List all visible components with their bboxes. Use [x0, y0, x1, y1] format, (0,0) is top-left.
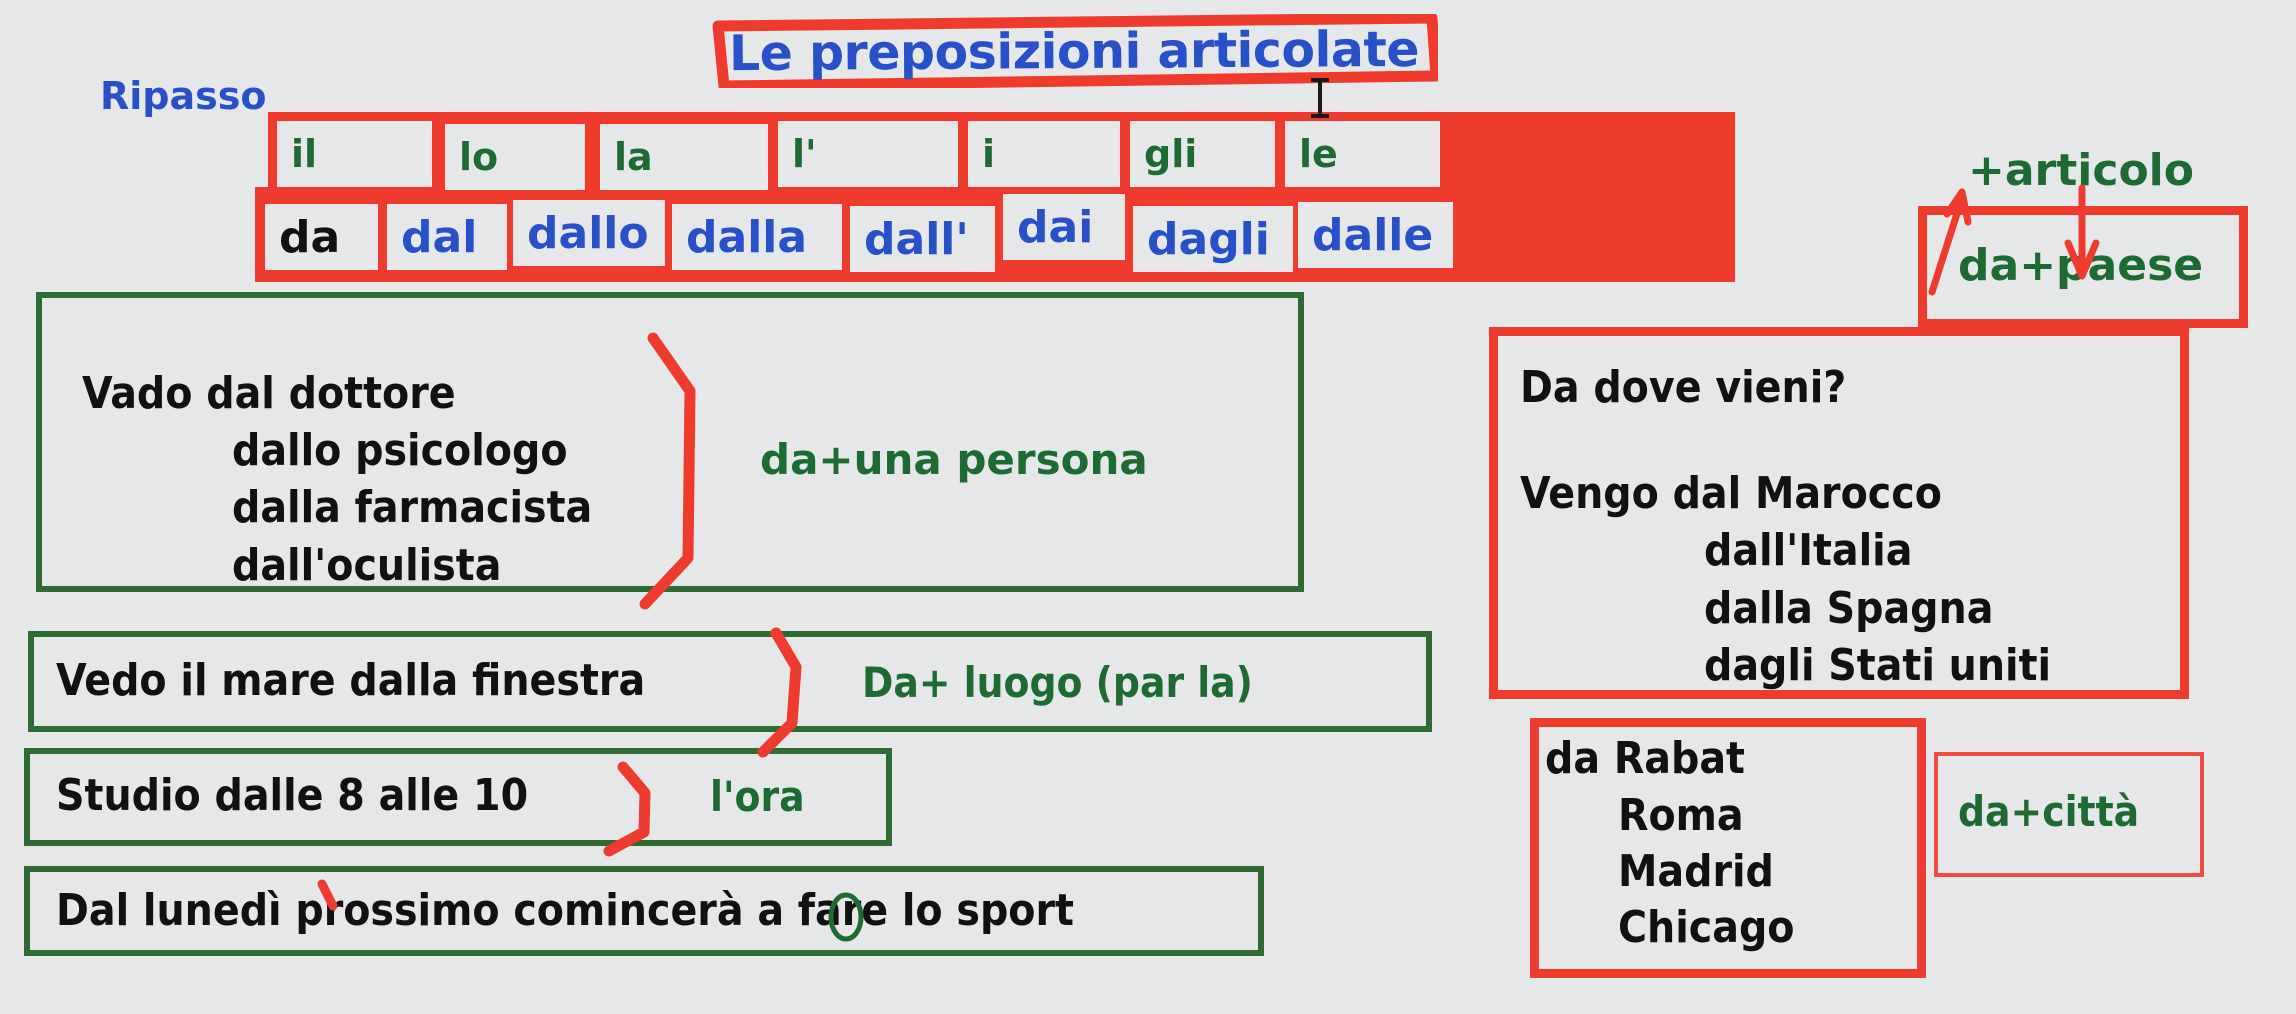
citta-line-3: Madrid — [1618, 846, 1774, 897]
citta-line-4: Chicago — [1618, 902, 1795, 953]
paese-line-3: dalla Spagna — [1704, 583, 1993, 634]
slide-canvas: Le preposizioni articolate Ripasso il lo… — [0, 0, 2296, 1014]
table-cell-article-la: la — [600, 124, 768, 190]
ora-sentence: Studio dalle 8 alle 10 — [56, 770, 528, 821]
persona-line-3: dalla farmacista — [232, 482, 592, 533]
persona-label: da+una persona — [760, 435, 1148, 484]
paese-line-1: Vengo dal Marocco — [1520, 468, 1942, 519]
annotation-da-citta: da+città — [1958, 787, 2139, 836]
table-cell-article-l-apostrophe: l' — [778, 121, 958, 187]
paese-line-4: dagli Stati uniti — [1704, 640, 2051, 691]
ora-label: l'ora — [710, 772, 805, 821]
citta-line-2: Roma — [1618, 790, 1744, 841]
table-cell-dai: dai — [1003, 194, 1125, 260]
table-cell-dall-apostrophe: dall' — [850, 206, 995, 272]
table-cell-article-gli: gli — [1130, 121, 1275, 187]
annotation-da-paese: da+paese — [1958, 240, 2203, 291]
luogo-sentence: Vedo il mare dalla finestra — [56, 655, 645, 706]
table-cell-dalla: dalla — [672, 204, 842, 270]
table-cell-da: da — [265, 204, 378, 270]
subtitle-ripasso: Ripasso — [100, 74, 266, 118]
table-cell-article-lo: lo — [445, 124, 585, 190]
paese-line-2: dall'Italia — [1704, 525, 1912, 576]
persona-line-1: Vado dal dottore — [82, 368, 456, 419]
title-box: Le preposizioni articolate — [710, 14, 1438, 88]
table-cell-dagli: dagli — [1133, 206, 1293, 272]
table-cell-article-il: il — [277, 121, 432, 187]
table-cell-dalle: dalle — [1298, 202, 1453, 268]
paese-question: Da dove vieni? — [1520, 362, 1846, 413]
annotation-articolo: +articolo — [1968, 145, 2194, 196]
table-cell-article-le: le — [1285, 121, 1440, 187]
table-cell-dal: dal — [387, 204, 507, 270]
table-cell-article-i: i — [968, 121, 1120, 187]
prepositions-table: il lo la l' i gli le da dal dallo dalla … — [255, 112, 1735, 282]
persona-line-2: dallo psicologo — [232, 425, 568, 476]
citta-line-1: da Rabat — [1545, 733, 1745, 784]
sport-sentence: Dal lunedì prossimo comincerà a fare lo … — [56, 885, 1074, 936]
table-cell-dallo: dallo — [513, 200, 665, 266]
persona-line-4: dall'oculista — [232, 540, 501, 591]
text-cursor-icon — [1318, 78, 1322, 118]
luogo-label: Da+ luogo (par la) — [862, 658, 1253, 707]
